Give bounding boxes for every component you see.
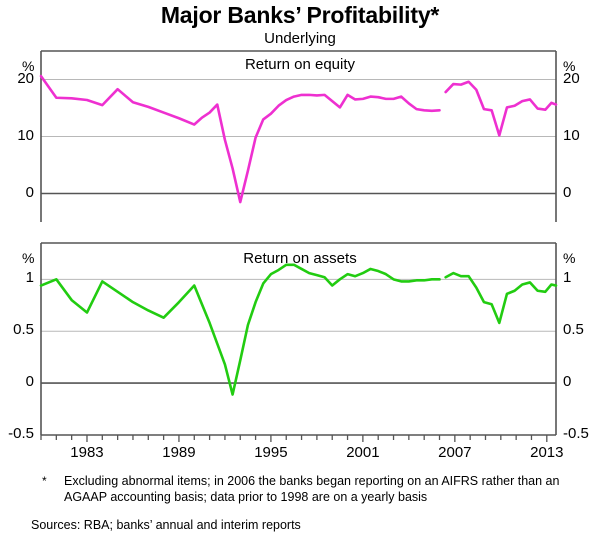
ytick-label-right-0: 0 xyxy=(563,373,571,390)
ytick-label-right--0.5: -0.5 xyxy=(563,425,589,442)
ytick-label-right-0.5: 0.5 xyxy=(563,321,584,338)
series-line-roe-0 xyxy=(41,76,440,202)
ytick-label-right-1: 1 xyxy=(563,269,571,286)
series-line-roa-0 xyxy=(41,265,440,395)
xtick-label-2013: 2013 xyxy=(507,444,587,461)
unit-label-left-top: % xyxy=(22,58,34,74)
unit-label-right-bottom: % xyxy=(563,250,575,266)
ytick-label-left-1: 1 xyxy=(0,269,34,286)
footnote-text: Excluding abnormal items; in 2006 the ba… xyxy=(64,474,564,505)
xtick-label-2001: 2001 xyxy=(323,444,403,461)
sources-text: Sources: RBA; banks’ annual and interim … xyxy=(31,518,591,534)
ytick-label-right-10: 10 xyxy=(563,127,580,144)
series-line-roe-1 xyxy=(446,82,556,136)
ytick-label-left-10: 10 xyxy=(0,127,34,144)
ytick-label-left--0.5: -0.5 xyxy=(0,425,34,442)
ytick-label-left-0.5: 0.5 xyxy=(0,321,34,338)
figure: Major Banks’ Profitability* Underlying R… xyxy=(0,0,600,535)
unit-label-left-bottom: % xyxy=(22,250,34,266)
xtick-label-1989: 1989 xyxy=(139,444,219,461)
ytick-label-right-0: 0 xyxy=(563,184,571,201)
footnote-marker: * xyxy=(42,474,47,490)
unit-label-right-top: % xyxy=(563,58,575,74)
xtick-label-1983: 1983 xyxy=(47,444,127,461)
ytick-label-left-0: 0 xyxy=(0,373,34,390)
series-line-roa-1 xyxy=(446,273,556,323)
xtick-label-1995: 1995 xyxy=(231,444,311,461)
xtick-label-2007: 2007 xyxy=(415,444,495,461)
ytick-label-left-0: 0 xyxy=(0,184,34,201)
